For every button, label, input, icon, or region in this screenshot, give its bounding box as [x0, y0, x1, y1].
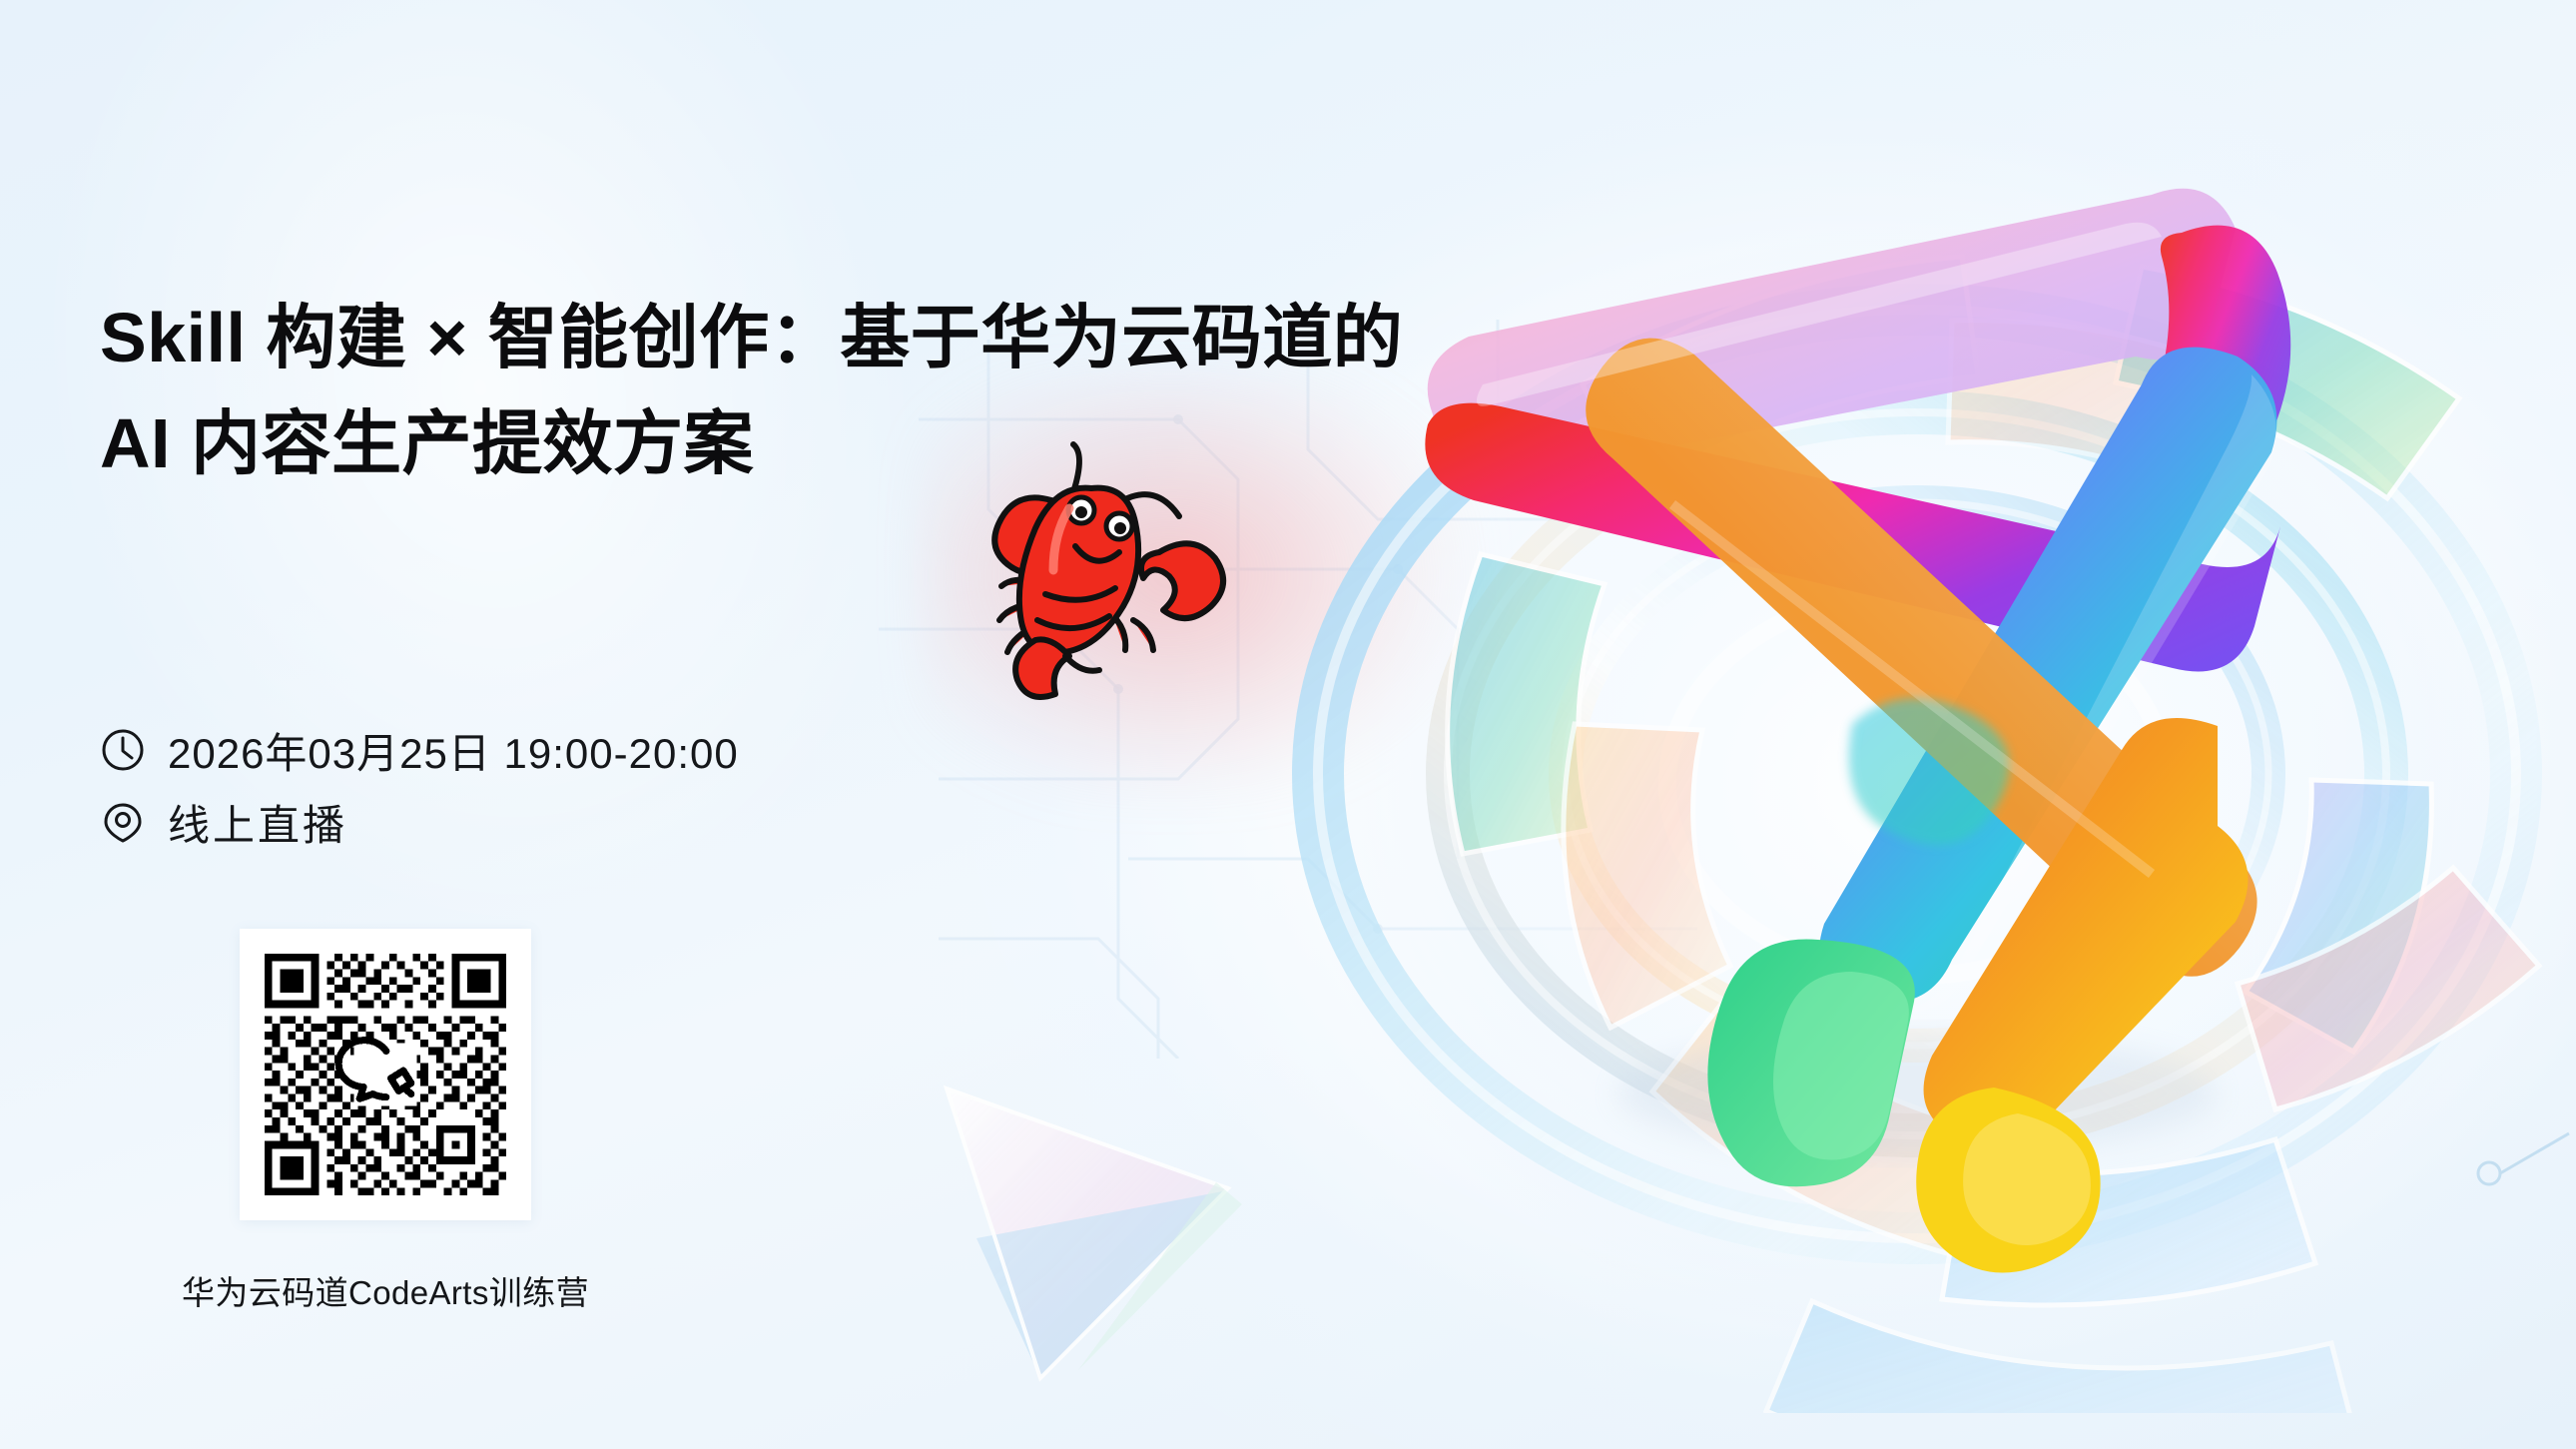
location-pin-icon: [100, 799, 146, 845]
clock-icon: [100, 727, 146, 773]
title-line-1: Skill 构建 × 智能创作：基于华为云码道的: [100, 285, 1158, 390]
event-time-text: 2026年03月25日 19:00-20:00: [168, 720, 739, 781]
qr-block: 华为云码道CodeArts训练营: [240, 929, 597, 1314]
qr-code[interactable]: [240, 929, 531, 1220]
event-meta: 2026年03月25日 19:00-20:00 线上直播: [100, 714, 739, 858]
event-venue-row: 线上直播: [100, 786, 739, 858]
codearts-3d-artwork: [1253, 85, 2576, 1413]
title-line-2: AI 内容生产提效方案: [100, 390, 1158, 496]
event-time-row: 2026年03月25日 19:00-20:00: [100, 714, 739, 786]
connector-node: [2478, 1133, 2569, 1184]
poster-content: Skill 构建 × 智能创作：基于华为云码道的 AI 内容生产提效方案 202…: [0, 0, 1198, 1449]
qr-caption: 华为云码道CodeArts训练营: [174, 1266, 597, 1314]
event-venue-text: 线上直播: [168, 792, 347, 853]
poster-canvas: Skill 构建 × 智能创作：基于华为云码道的 AI 内容生产提效方案 202…: [0, 0, 2576, 1449]
page-title: Skill 构建 × 智能创作：基于华为云码道的 AI 内容生产提效方案: [100, 285, 1158, 497]
